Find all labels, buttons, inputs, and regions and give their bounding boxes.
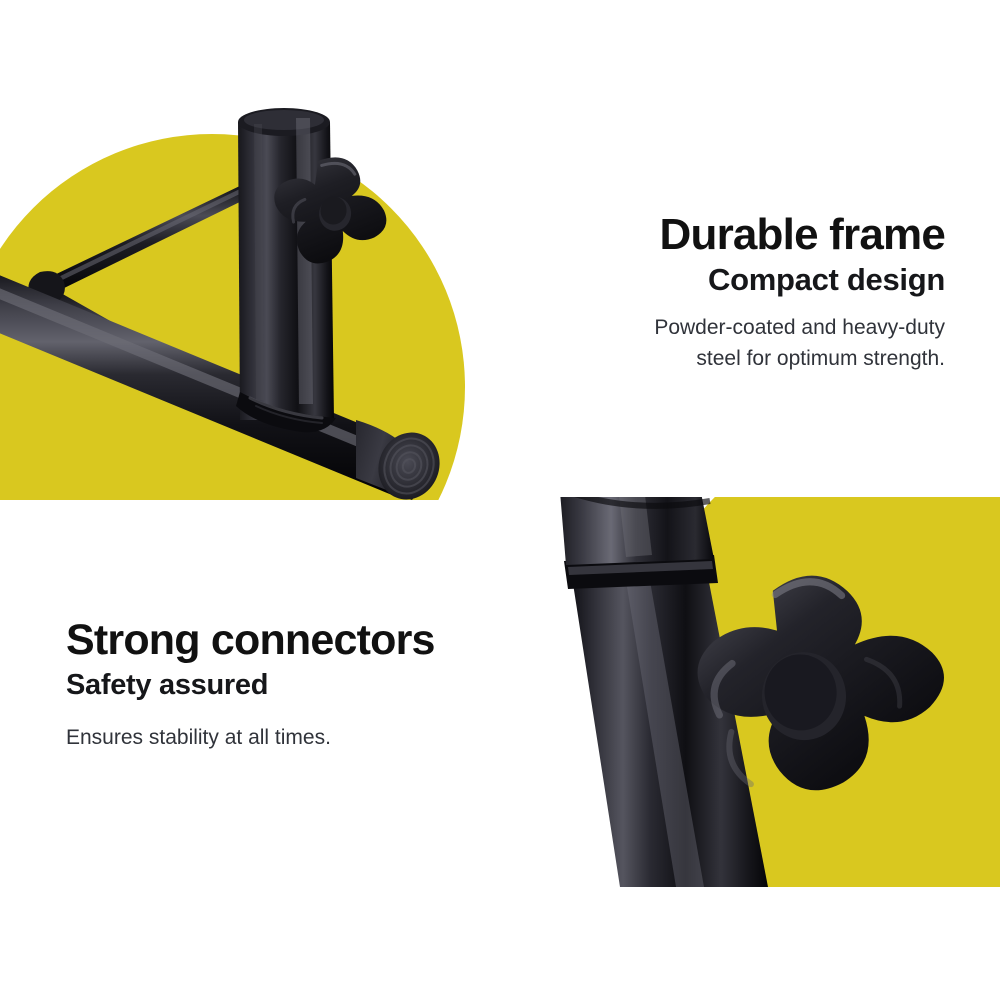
feature-subhead: Compact design	[515, 259, 945, 302]
feature-body: Powder-coated and heavy-duty steel for o…	[515, 313, 945, 374]
vertical-post	[238, 108, 334, 420]
tube-connector-photo	[500, 497, 1000, 887]
infographic-canvas: Durable frame Compact design Powder-coat…	[0, 0, 1000, 1000]
feature-headline: Durable frame	[515, 212, 945, 259]
feature-body-line: steel for optimum strength.	[515, 344, 945, 374]
feature-strong-connectors: Strong connectors Safety assured Ensures…	[66, 618, 506, 754]
feature-durable-frame: Durable frame Compact design Powder-coat…	[515, 212, 945, 374]
frame-junction-photo	[0, 0, 500, 500]
feature-headline: Strong connectors	[66, 618, 506, 664]
upper-tube	[558, 497, 714, 565]
feature-subhead: Safety assured	[66, 664, 506, 708]
feature-body-line: Ensures stability at all times.	[66, 723, 506, 753]
feature-body: Ensures stability at all times.	[66, 723, 506, 753]
feature-body-line: Powder-coated and heavy-duty	[515, 313, 945, 343]
